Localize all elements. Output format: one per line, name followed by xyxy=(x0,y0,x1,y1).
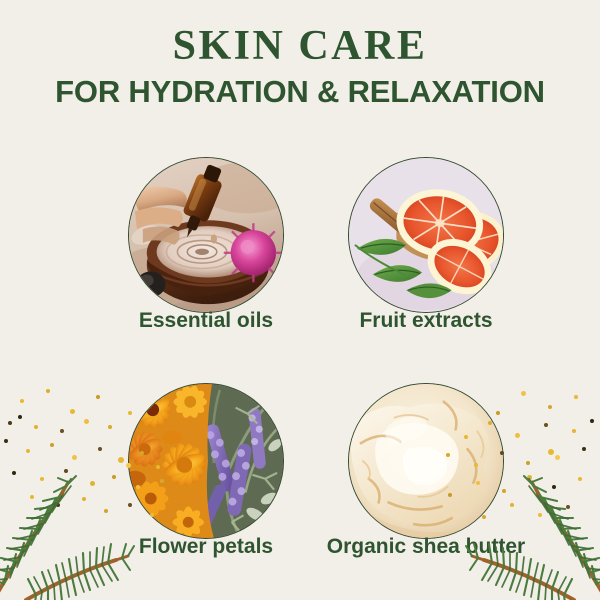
page-title: SKIN CARE xyxy=(0,22,600,70)
essential-oils-illustration xyxy=(129,158,283,312)
fruit-extracts-illustration xyxy=(349,158,503,312)
page-subtitle: FOR HYDRATION & RELAXATION xyxy=(0,74,600,110)
caption-fruit-extracts: Fruit extracts xyxy=(326,308,526,334)
pine-branch-right xyxy=(433,420,600,600)
pine-branch-left-svg xyxy=(0,420,167,600)
poster-canvas: SKIN CARE FOR HYDRATION & RELAXATION xyxy=(0,0,600,600)
pine-branch-left xyxy=(0,420,167,600)
caption-essential-oils: Essential oils xyxy=(106,308,306,334)
pine-branch-right-svg xyxy=(433,420,600,600)
header: SKIN CARE FOR HYDRATION & RELAXATION xyxy=(0,22,600,110)
image-circle-fruit-extracts xyxy=(348,157,504,313)
image-circle-essential-oils xyxy=(128,157,284,313)
